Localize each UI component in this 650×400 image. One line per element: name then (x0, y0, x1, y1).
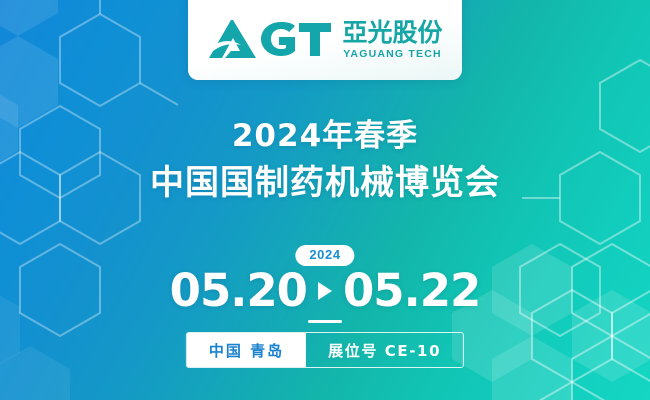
logo-plate: 亞光股份 YAGUANG TECH (188, 0, 462, 80)
play-triangle-right-icon (318, 282, 332, 300)
date-start: 05.20 (170, 268, 307, 313)
venue-city: 中国 青岛 (187, 333, 306, 367)
venue-bar: 中国 青岛 展位号 CE-10 (186, 332, 464, 368)
date-underline-divider (308, 320, 342, 323)
exhibition-banner: 亞光股份 YAGUANG TECH 2024年春季 中国国制药机械博览会 202… (0, 0, 650, 400)
venue-booth: 展位号 CE-10 (306, 333, 463, 367)
date-range: 05.20 05.22 (0, 268, 650, 313)
logo-company-en: YAGUANG TECH (342, 49, 442, 60)
headline: 2024年春季 中国国制药机械博览会 (0, 118, 650, 205)
logo-company-cn: 亞光股份 (342, 20, 442, 45)
date-end: 05.22 (343, 268, 480, 313)
headline-line-2: 中国国制药机械博览会 (0, 161, 650, 205)
agt-logo-icon (207, 18, 333, 60)
headline-line-1: 2024年春季 (0, 118, 650, 155)
logo-company-names: 亞光股份 YAGUANG TECH (342, 20, 442, 60)
